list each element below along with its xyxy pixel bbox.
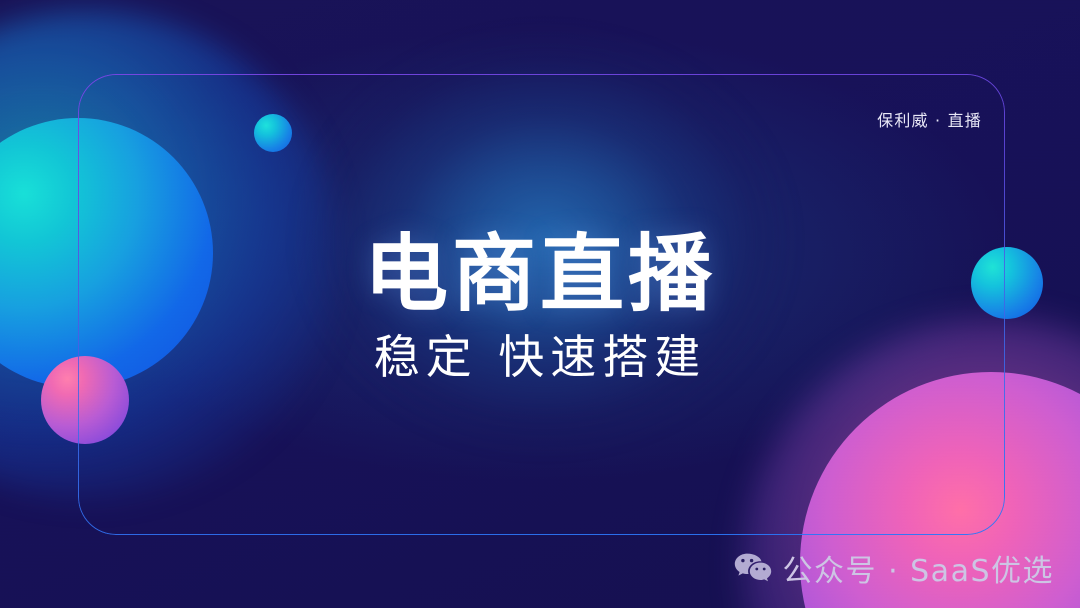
brand-label: 保利威 · 直播: [877, 107, 982, 131]
wechat-icon: [734, 552, 772, 584]
sphere-cyan-small-top: [254, 114, 292, 152]
hero-subtitle: 稳定 快速搭建: [0, 334, 1080, 380]
poster-canvas: 保利威 · 直播 电商直播 稳定 快速搭建 公众号 · SaaS优选: [0, 0, 1080, 608]
watermark-label: 公众号 · SaaS优选: [783, 546, 1054, 590]
watermark: 公众号 · SaaS优选: [734, 546, 1054, 590]
hero-text-block: 电商直播 稳定 快速搭建: [0, 232, 1080, 380]
hero-title: 电商直播: [0, 232, 1080, 316]
